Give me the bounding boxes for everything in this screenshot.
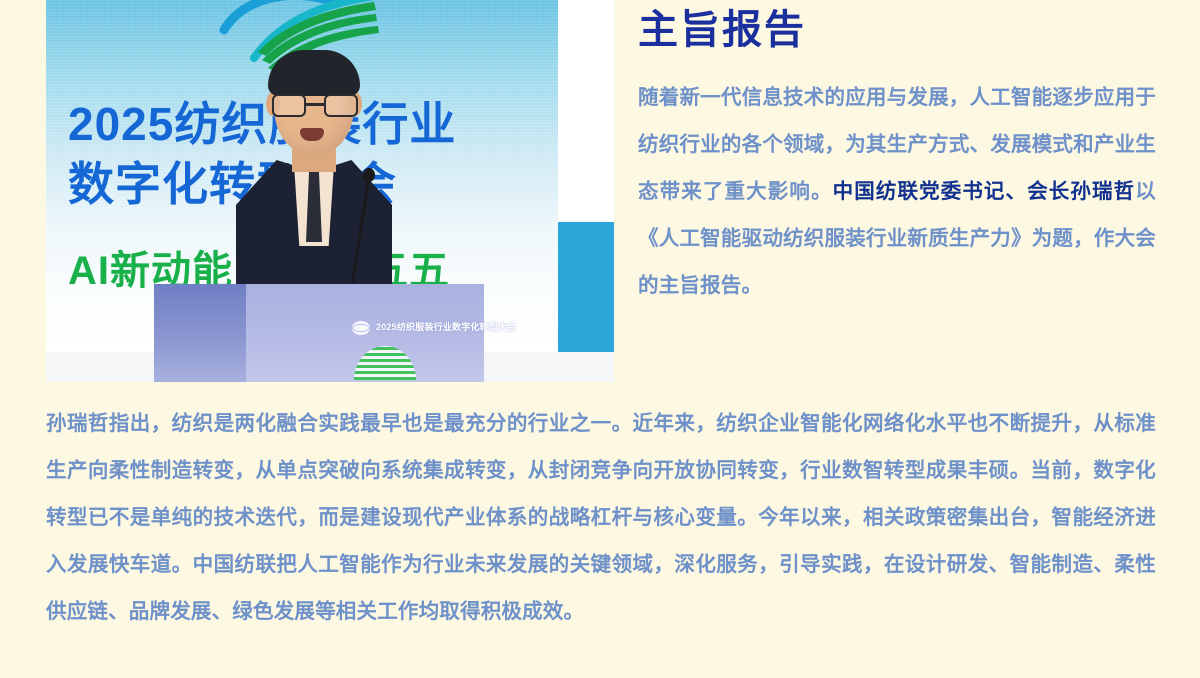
microphone-icon — [363, 168, 375, 182]
article-page: 2025纺织服装行业 数字化转型大会 AI新动能 智启十五五 — [0, 0, 1200, 678]
glasses-bridge — [306, 103, 324, 106]
speaker-mouth — [300, 128, 324, 141]
screen-right-white-panel — [558, 0, 614, 222]
article-body-paragraph: 孙瑞哲指出，纺织是两化融合实践最早也是最充分的行业之一。近年来，纺织企业智能化网… — [46, 400, 1156, 635]
top-section: 2025纺织服装行业 数字化转型大会 AI新动能 智启十五五 — [46, 0, 1156, 384]
glasses-lens-left — [272, 94, 306, 117]
screen-right-blue-block — [558, 222, 614, 352]
article-column: 主旨报告 随着新一代信息技术的应用与发展，人工智能逐步应用于纺织行业的各个领域，… — [638, 0, 1156, 384]
speaker-hair — [268, 50, 360, 96]
keynote-photo: 2025纺织服装行业 数字化转型大会 AI新动能 智启十五五 — [46, 0, 614, 382]
glasses-lens-right — [324, 94, 358, 117]
page-title: 主旨报告 — [638, 8, 1156, 52]
speaker-figure — [222, 56, 406, 296]
glasses-icon — [272, 94, 358, 118]
podium-left-face — [154, 284, 246, 382]
podium: 2025纺织服装行业数字化转型大会 — [154, 284, 484, 382]
intro-emphasis: 中国纺联党委书记、会长孙瑞哲 — [833, 180, 1136, 203]
podium-logo-text: 2025纺织服装行业数字化转型大会 — [376, 320, 516, 333]
podium-globe-icon — [350, 320, 372, 336]
article-intro-paragraph: 随着新一代信息技术的应用与发展，人工智能逐步应用于纺织行业的各个领域，为其生产方… — [638, 74, 1156, 309]
